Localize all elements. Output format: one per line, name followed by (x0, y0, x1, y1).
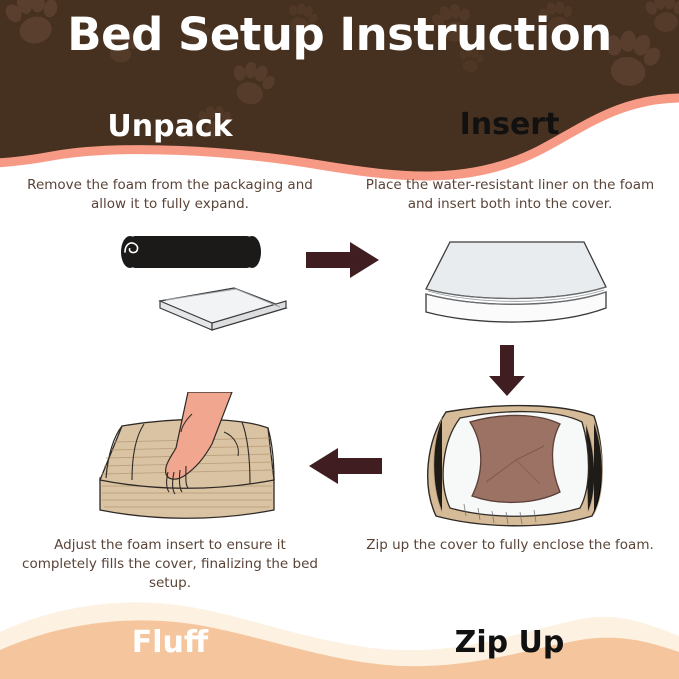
step-label-insert: Insert (340, 107, 679, 142)
rolled-foam-icon (120, 236, 261, 268)
step-caption-fluff: Adjust the foam insert to ensure it comp… (18, 536, 322, 593)
foam-with-liner-illustration (418, 232, 614, 342)
bed-brown-cushion (470, 415, 560, 502)
bed-setup-infographic: Bed Setup Instruction Unpack Insert Zip … (0, 0, 679, 679)
page-title: Bed Setup Instruction (0, 8, 679, 61)
arrow-insert-to-zip-icon (487, 345, 527, 397)
step-caption-zip-up: Zip up the cover to fully enclose the fo… (358, 536, 662, 555)
step-caption-unpack: Remove the foam from the packaging and a… (18, 176, 322, 214)
arrow-unpack-to-insert-icon (306, 240, 380, 280)
step-label-unpack: Unpack (0, 109, 340, 144)
step-label-fluff: Fluff (0, 625, 340, 660)
rolled-foam-and-liner-illustration (108, 228, 298, 340)
step-label-zip-up: Zip Up (340, 625, 679, 660)
arrow-zip-to-fluff-icon (308, 446, 382, 486)
liner-sheet-icon (160, 288, 286, 330)
step-caption-insert: Place the water-resistant liner on the f… (358, 176, 662, 214)
hand-fluffing-bed-illustration (92, 392, 314, 532)
water-resistant-liner-icon (426, 242, 606, 301)
zipped-pet-bed-illustration (408, 398, 624, 532)
